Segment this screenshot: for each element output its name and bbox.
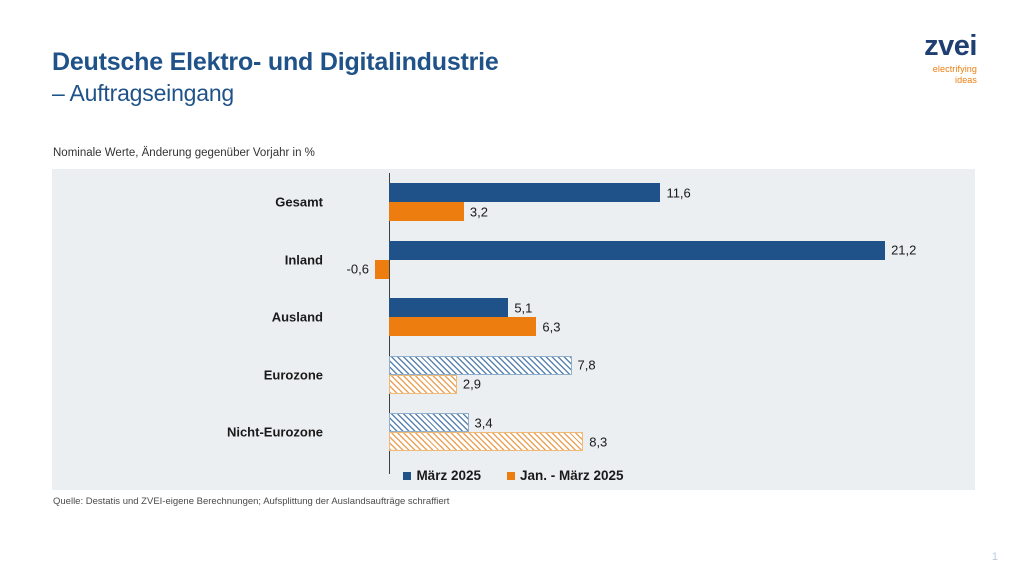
bar-value-label: 5,1 <box>514 300 532 315</box>
logo-wordmark: zvei <box>924 32 977 61</box>
bar <box>375 260 389 279</box>
logo-tagline: electrifying ideas <box>924 64 977 87</box>
bars-layer: 11,63,221,2-0,65,16,37,82,93,48,3 <box>52 169 975 490</box>
legend-label: Jan. - März 2025 <box>520 468 624 483</box>
bar-value-label: 3,4 <box>475 415 493 430</box>
bar <box>389 413 469 432</box>
bar <box>389 183 660 202</box>
bar <box>389 317 536 336</box>
chart-legend: März 2025Jan. - März 2025 <box>52 468 975 483</box>
bar <box>389 241 885 260</box>
bar-value-label: 6,3 <box>542 319 560 334</box>
bar-value-label: 3,2 <box>470 204 488 219</box>
legend-label: März 2025 <box>416 468 481 483</box>
bar <box>389 375 457 394</box>
bar-value-label: 11,6 <box>666 185 690 200</box>
chart-plot-area: GesamtInlandAuslandEurozoneNicht-Eurozon… <box>52 169 975 490</box>
bar <box>389 298 508 317</box>
bar-value-label: -0,6 <box>347 262 369 277</box>
chart-subtitle: Nominale Werte, Änderung gegenüber Vorja… <box>53 147 315 159</box>
bar-value-label: 2,9 <box>463 377 481 392</box>
logo-tagline-line2: ideas <box>924 75 977 86</box>
legend-swatch-icon <box>507 472 515 480</box>
bar-value-label: 21,2 <box>891 243 916 258</box>
bar-value-label: 7,8 <box>578 358 596 373</box>
bar <box>389 202 464 221</box>
legend-item[interactable]: März 2025 <box>403 468 481 483</box>
legend-item[interactable]: Jan. - März 2025 <box>507 468 624 483</box>
logo-tagline-line1: electrifying <box>924 64 977 75</box>
zvei-logo: zvei electrifying ideas <box>924 32 977 87</box>
bar <box>389 356 572 375</box>
legend-swatch-icon <box>403 472 411 480</box>
bar <box>389 432 583 451</box>
page-title: Deutsche Elektro- und Digitalindustrie –… <box>52 48 499 107</box>
bar-value-label: 8,3 <box>589 434 607 449</box>
page-title-line2: – Auftragseingang <box>52 80 499 107</box>
page-title-line1: Deutsche Elektro- und Digitalindustrie <box>52 48 499 78</box>
source-note: Quelle: Destatis und ZVEI-eigene Berechn… <box>53 496 449 507</box>
page-number: 1 <box>992 551 998 563</box>
